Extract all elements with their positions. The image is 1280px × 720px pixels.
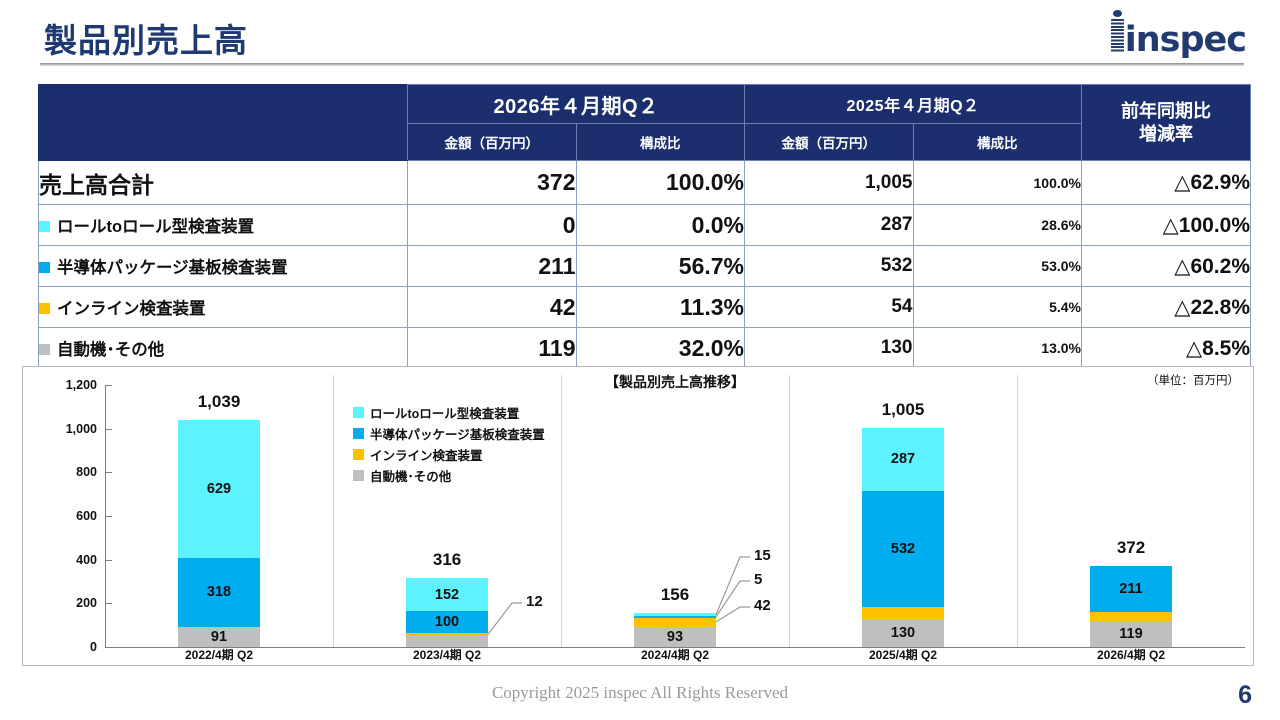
cell-current-ratio: 0.0%: [576, 205, 745, 246]
bar-segment-value: 119: [1119, 626, 1142, 642]
y-axis-tick: [105, 472, 112, 473]
y-axis-tick-label: 600: [37, 509, 97, 523]
y-axis-tick-label: 200: [37, 596, 97, 610]
cell-current-amount: 0: [408, 205, 577, 246]
legend-swatch-icon: [353, 407, 364, 418]
page-title: 製品別売上高: [44, 14, 248, 62]
x-axis-category-label: 2023/4期 Q2: [333, 646, 561, 663]
bar-segment: 93: [634, 627, 716, 647]
table-head: 2026年４月期Q２ 2025年４月期Q２ 前年同期比 増減率 金額（百万円） …: [39, 85, 1251, 161]
bar-segment: 318: [178, 558, 260, 627]
y-axis-tick: [105, 647, 112, 648]
bar-segment-value: 318: [207, 584, 231, 600]
cell-current-amount: 119: [408, 328, 577, 369]
row-label-roll-to-roll: ロールtoロール型検査装置: [39, 205, 408, 246]
cell-current-amount: 211: [408, 246, 577, 287]
cell-yoy: △22.8%: [1082, 287, 1251, 328]
row-label-text: ロールtoロール型検査装置: [57, 218, 254, 236]
bar-segment: 130: [862, 619, 944, 647]
bar-total-label: 1,005: [882, 400, 925, 420]
bar-segment: 54: [862, 607, 944, 619]
bar-segment: 91: [178, 627, 260, 647]
bar-segment-value: 629: [207, 481, 231, 497]
marker-square-icon: [39, 262, 50, 273]
header-yoy: 前年同期比 増減率: [1082, 85, 1251, 161]
bar-total-label: 1,039: [198, 392, 241, 412]
legend-label: 自動機･その他: [370, 466, 451, 485]
cell-yoy: △8.5%: [1082, 328, 1251, 369]
cell-previous-ratio: 28.6%: [913, 205, 1082, 246]
cell-previous-amount: 54: [745, 287, 914, 328]
legend-item: 半導体パッケージ基板検査装置: [353, 423, 563, 444]
cell-previous-amount: 532: [745, 246, 914, 287]
logo-mark-icon: [1111, 19, 1124, 53]
header-current-ratio: 構成比: [576, 124, 745, 161]
header-yoy-line1: 前年同期比: [1082, 100, 1250, 123]
bar-segment: 119: [1090, 621, 1172, 647]
bar-total-label: 372: [1117, 538, 1145, 558]
y-axis-tick: [105, 603, 112, 604]
cell-previous-amount: 287: [745, 205, 914, 246]
cell-current-ratio: 56.7%: [576, 246, 745, 287]
cell-previous-ratio: 13.0%: [913, 328, 1082, 369]
row-label-inline: インライン検査装置: [39, 287, 408, 328]
sales-trend-chart: 【製品別売上高推移】 （単位：百万円） 02004006008001,0001,…: [22, 366, 1254, 666]
stacked-bar: 21142119: [1090, 566, 1172, 647]
header-divider: [40, 63, 1244, 66]
bar-segment: 152: [406, 578, 488, 611]
chart-plot-area: 02004006008001,0001,200 629318911,039202…: [23, 367, 1255, 665]
header-current-amount: 金額（百万円）: [408, 124, 577, 161]
stacked-bar: 62931891: [178, 420, 260, 647]
cell-yoy: △62.9%: [1082, 161, 1251, 205]
bar-segment-value: 287: [891, 451, 915, 467]
y-axis-tick-label: 1,000: [37, 422, 97, 436]
chart-legend: ロールtoロール型検査装置 半導体パッケージ基板検査装置 インライン検査装置 自…: [353, 402, 563, 486]
cell-yoy: △60.2%: [1082, 246, 1251, 287]
footer-copyright: Copyright 2025 inspec All Rights Reserve…: [0, 683, 1280, 703]
cell-yoy: △100.0%: [1082, 205, 1251, 246]
bar-segment: 211: [1090, 566, 1172, 612]
cell-current-ratio: 32.0%: [576, 328, 745, 369]
bar-segment-value: 211: [1119, 581, 1142, 597]
row-label-semiconductor: 半導体パッケージ基板検査装置: [39, 246, 408, 287]
bar-segment-callout-value: 12: [526, 593, 543, 610]
header-group-current: 2026年４月期Q２: [408, 85, 745, 124]
y-axis-tick: [105, 560, 112, 561]
cell-current-amount: 372: [408, 161, 577, 205]
header-group-previous: 2025年４月期Q２: [745, 85, 1082, 124]
cell-previous-amount: 130: [745, 328, 914, 369]
legend-swatch-icon: [353, 470, 364, 481]
table-row: 半導体パッケージ基板検査装置 211 56.7% 532 53.0% △60.2…: [39, 246, 1251, 287]
cell-current-amount: 42: [408, 287, 577, 328]
bar-segment-value: 532: [891, 541, 915, 557]
bar-segment-value: 100: [435, 614, 459, 630]
cell-previous-amount: 1,005: [745, 161, 914, 205]
stacked-bar: 93: [634, 613, 716, 647]
bar-segment-callout-value: 15: [754, 547, 771, 564]
legend-label: ロールtoロール型検査装置: [370, 403, 519, 422]
chart-category-group: 211421193722026/4期 Q2: [1017, 367, 1245, 665]
bar-segment-value: 130: [891, 625, 915, 641]
y-axis-tick: [105, 385, 112, 386]
table-row: 自動機･その他 119 32.0% 130 13.0% △8.5%: [39, 328, 1251, 369]
bar-segment: 287: [862, 428, 944, 491]
header-yoy-line2: 増減率: [1082, 123, 1250, 146]
legend-item: インライン検査装置: [353, 444, 563, 465]
cell-previous-ratio: 53.0%: [913, 246, 1082, 287]
chart-category-group: 931562024/4期 Q2: [561, 367, 789, 665]
row-label-text: 自動機･その他: [57, 341, 164, 359]
y-axis-tick: [105, 516, 112, 517]
row-label-text: インライン検査装置: [57, 300, 206, 318]
chart-category-group: 287532541301,0052025/4期 Q2: [789, 367, 1017, 665]
page-number: 6: [1238, 681, 1252, 710]
chart-category-group: 629318911,0392022/4期 Q2: [105, 367, 333, 665]
cell-current-ratio: 100.0%: [576, 161, 745, 205]
x-axis-category-label: 2026/4期 Q2: [1017, 646, 1245, 663]
legend-item: 自動機･その他: [353, 465, 563, 486]
bar-segment: 629: [178, 420, 260, 557]
y-axis-tick-label: 800: [37, 465, 97, 479]
bar-segment-value: 91: [211, 629, 227, 645]
legend-label: 半導体パッケージ基板検査装置: [370, 424, 545, 443]
cell-previous-ratio: 5.4%: [913, 287, 1082, 328]
row-label-text: 半導体パッケージ基板検査装置: [57, 259, 288, 277]
bar-segment: 532: [862, 491, 944, 607]
y-axis-tick: [105, 429, 112, 430]
legend-swatch-icon: [353, 428, 364, 439]
row-label-automation-other: 自動機･その他: [39, 328, 408, 369]
table-body: 売上高合計 372 100.0% 1,005 100.0% △62.9% ロール…: [39, 161, 1251, 369]
x-axis-category-label: 2025/4期 Q2: [789, 646, 1017, 663]
x-axis-category-label: 2024/4期 Q2: [561, 646, 789, 663]
table-row: 売上高合計 372 100.0% 1,005 100.0% △62.9%: [39, 161, 1251, 205]
bar-segment-callout-value: 5: [754, 571, 762, 588]
y-axis-tick-label: 1,200: [37, 378, 97, 392]
cell-previous-ratio: 100.0%: [913, 161, 1082, 205]
y-axis-tick-label: 400: [37, 553, 97, 567]
inspec-logo: inspec: [1111, 10, 1246, 56]
chart-y-axis: 02004006008001,0001,200: [33, 367, 97, 665]
stacked-bar: 15210051: [406, 578, 488, 647]
legend-label: インライン検査装置: [370, 445, 483, 464]
table-row: インライン検査装置 42 11.3% 54 5.4% △22.8%: [39, 287, 1251, 328]
bar-segment: 42: [1090, 612, 1172, 621]
header-previous-ratio: 構成比: [913, 124, 1082, 161]
product-sales-table: 2026年４月期Q２ 2025年４月期Q２ 前年同期比 増減率 金額（百万円） …: [38, 84, 1251, 369]
bar-segment-value: 152: [435, 587, 459, 603]
bar-segment: 100: [406, 611, 488, 633]
logo-text: inspec: [1125, 24, 1246, 56]
legend-item: ロールtoロール型検査装置: [353, 402, 563, 423]
header-previous-amount: 金額（百万円）: [745, 124, 914, 161]
marker-square-icon: [39, 303, 50, 314]
stacked-bar: 28753254130: [862, 428, 944, 647]
slide-header: 製品別売上高 inspec: [0, 0, 1280, 72]
bar-segment-value: 93: [667, 629, 683, 645]
header-corner-blank: [39, 85, 408, 161]
bar-segment: [634, 618, 716, 627]
x-axis-category-label: 2022/4期 Q2: [105, 646, 333, 663]
y-axis-tick-label: 0: [37, 640, 97, 654]
bar-segment-callout-value: 42: [754, 597, 771, 614]
bar-total-label: 316: [433, 550, 461, 570]
bar-total-label: 156: [661, 585, 689, 605]
marker-square-icon: [39, 344, 50, 355]
row-label-total: 売上高合計: [39, 161, 408, 205]
marker-square-icon: [39, 221, 50, 232]
table-group-header-row: 2026年４月期Q２ 2025年４月期Q２ 前年同期比 増減率: [39, 85, 1251, 124]
legend-swatch-icon: [353, 449, 364, 460]
table-row: ロールtoロール型検査装置 0 0.0% 287 28.6% △100.0%: [39, 205, 1251, 246]
cell-current-ratio: 11.3%: [576, 287, 745, 328]
